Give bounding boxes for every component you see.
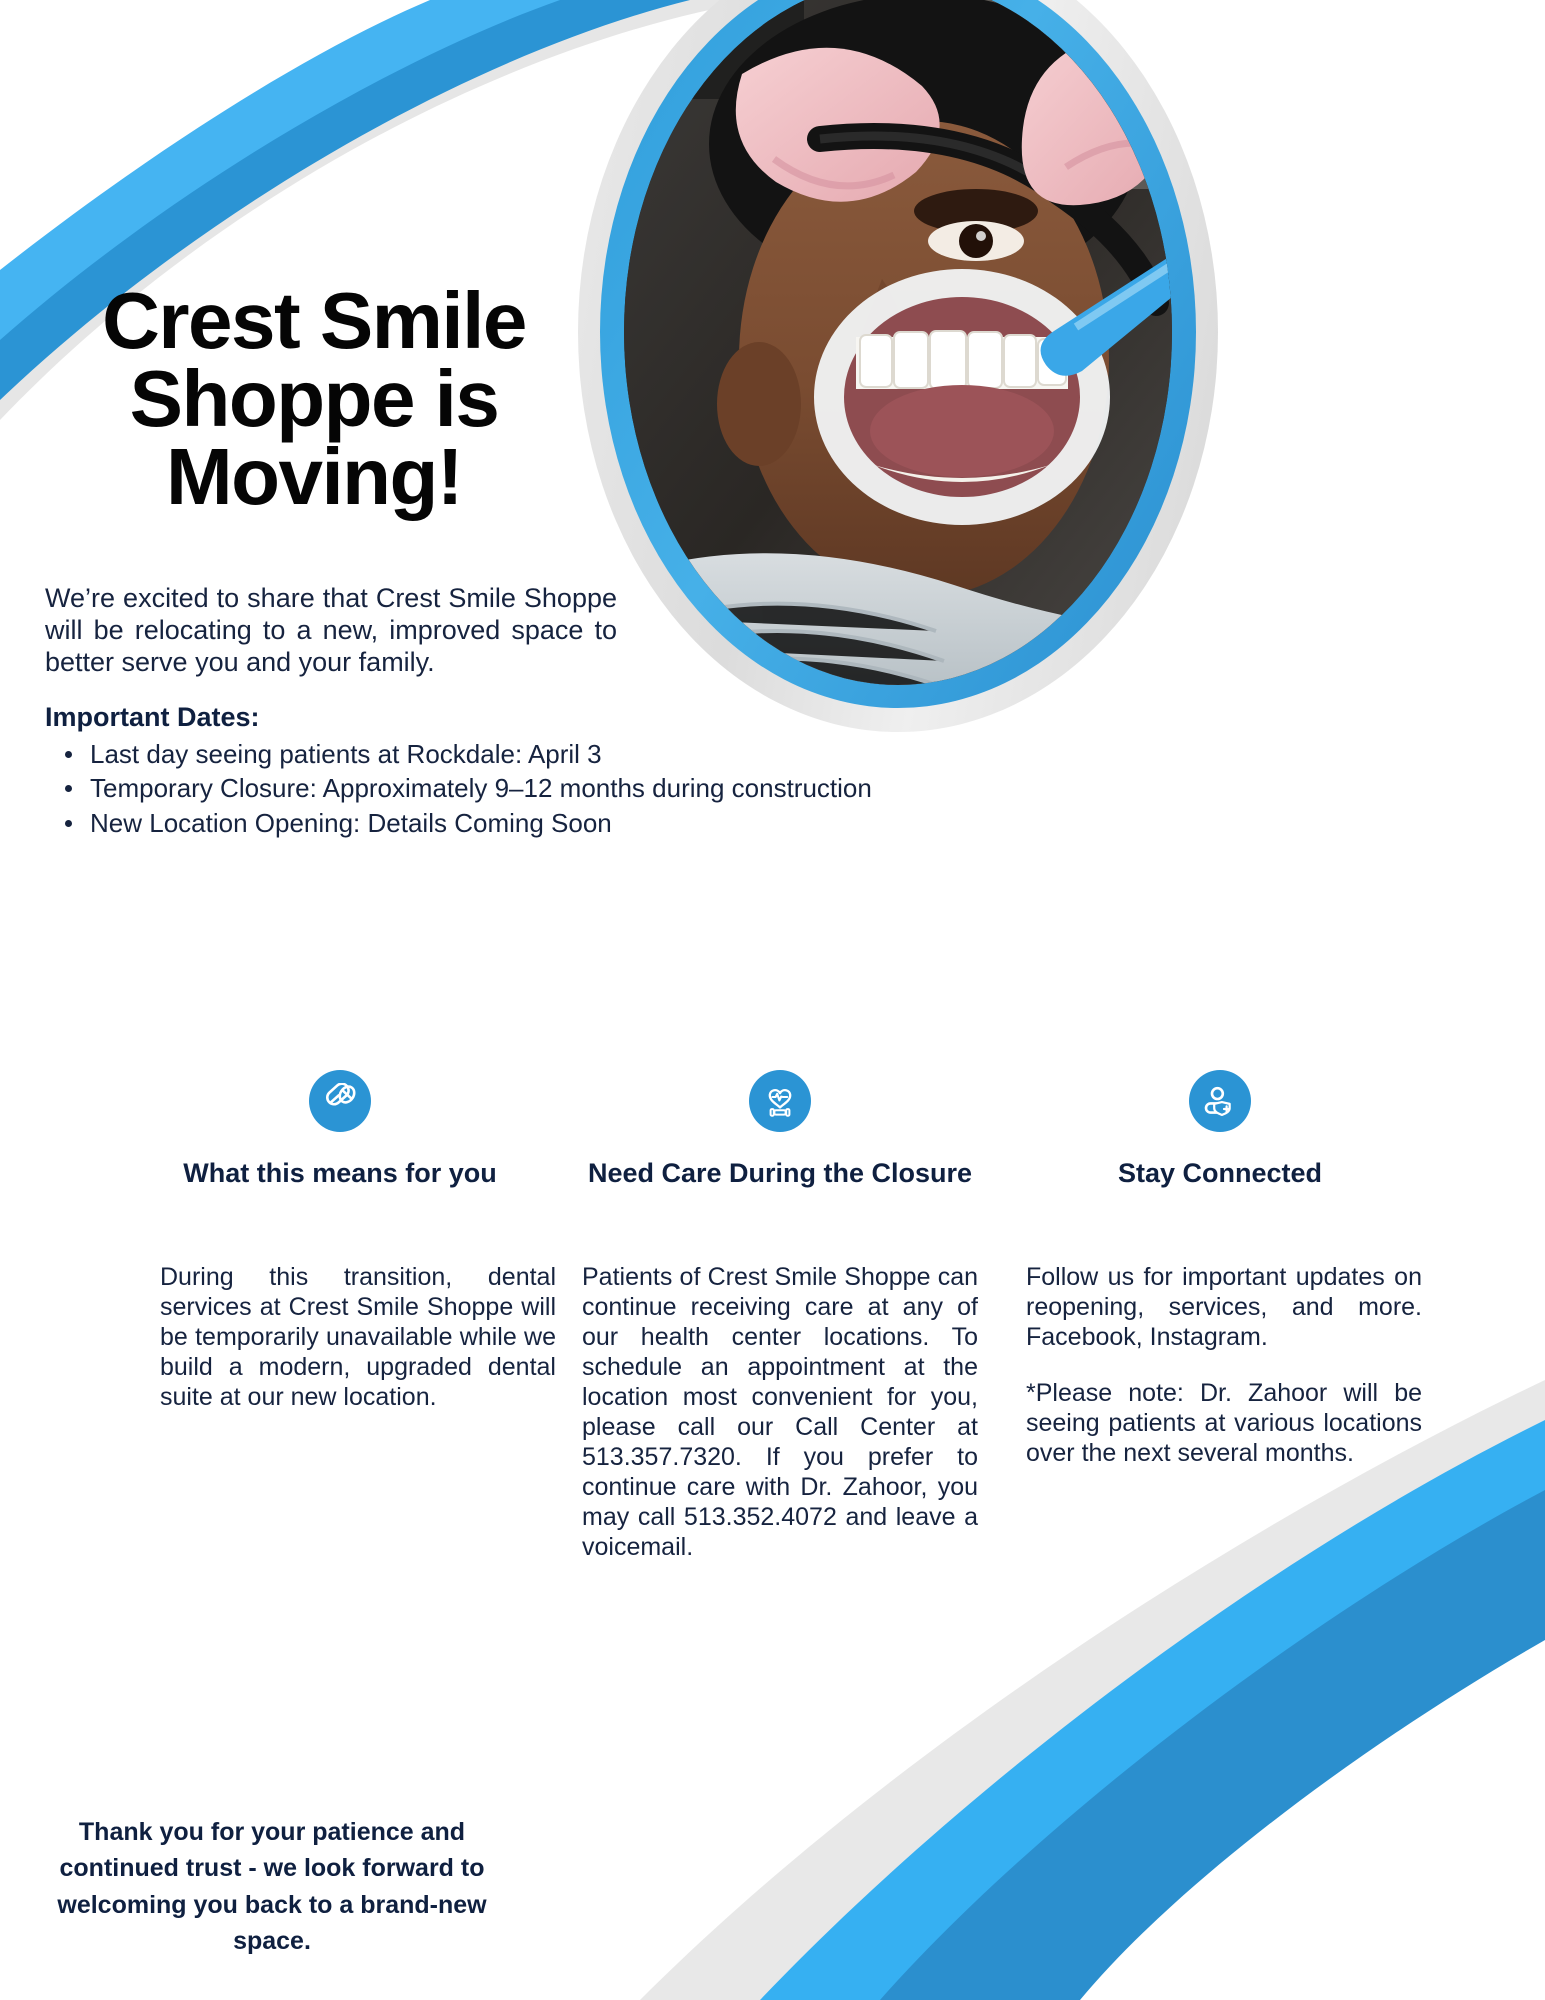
patient-shield-icon (1189, 1070, 1251, 1132)
column-body: Patients of Crest Smile Shoppe can conti… (582, 1262, 978, 1562)
intro-paragraph: We’re excited to share that Crest Smile … (45, 583, 617, 679)
feature-column-what-this-means: What this means for you During this tran… (120, 1070, 560, 1562)
page-title: Crest Smile Shoppe is Moving! (34, 282, 594, 517)
column-title: Need Care During the Closure (588, 1154, 972, 1234)
column-body: Follow us for important updates on reope… (1022, 1262, 1422, 1468)
feature-columns: What this means for you During this tran… (120, 1070, 1440, 1562)
column-body: During this transition, dental services … (142, 1262, 556, 1412)
important-dates-heading: Important Dates: (45, 702, 260, 733)
hero-image-circle (578, 0, 1218, 732)
feature-column-stay-connected: Stay Connected Follow us for important u… (1000, 1070, 1440, 1562)
flyer-page: Crest Smile Shoppe is Moving! We’re exci… (0, 0, 1545, 2000)
list-item: New Location Opening: Details Coming Soo… (90, 806, 872, 840)
hero-photo (624, 0, 1172, 685)
column-paragraph: During this transition, dental services … (160, 1262, 556, 1412)
list-item: Last day seeing patients at Rockdale: Ap… (90, 737, 872, 771)
column-title: What this means for you (183, 1154, 497, 1234)
feature-column-need-care: Need Care During the Closure Patients of… (560, 1070, 1000, 1562)
column-paragraph: *Please note: Dr. Zahoor will be seeing … (1026, 1378, 1422, 1468)
important-dates-list: Last day seeing patients at Rockdale: Ap… (45, 737, 872, 840)
column-paragraph: Patients of Crest Smile Shoppe can conti… (582, 1262, 978, 1562)
footer-message: Thank you for your patience and continue… (42, 1814, 502, 1959)
column-paragraph: Follow us for important updates on reope… (1026, 1262, 1422, 1352)
pills-icon (309, 1070, 371, 1132)
column-title: Stay Connected (1118, 1154, 1322, 1234)
heart-pulse-dumbbell-icon (749, 1070, 811, 1132)
list-item: Temporary Closure: Approximately 9–12 mo… (90, 771, 872, 805)
